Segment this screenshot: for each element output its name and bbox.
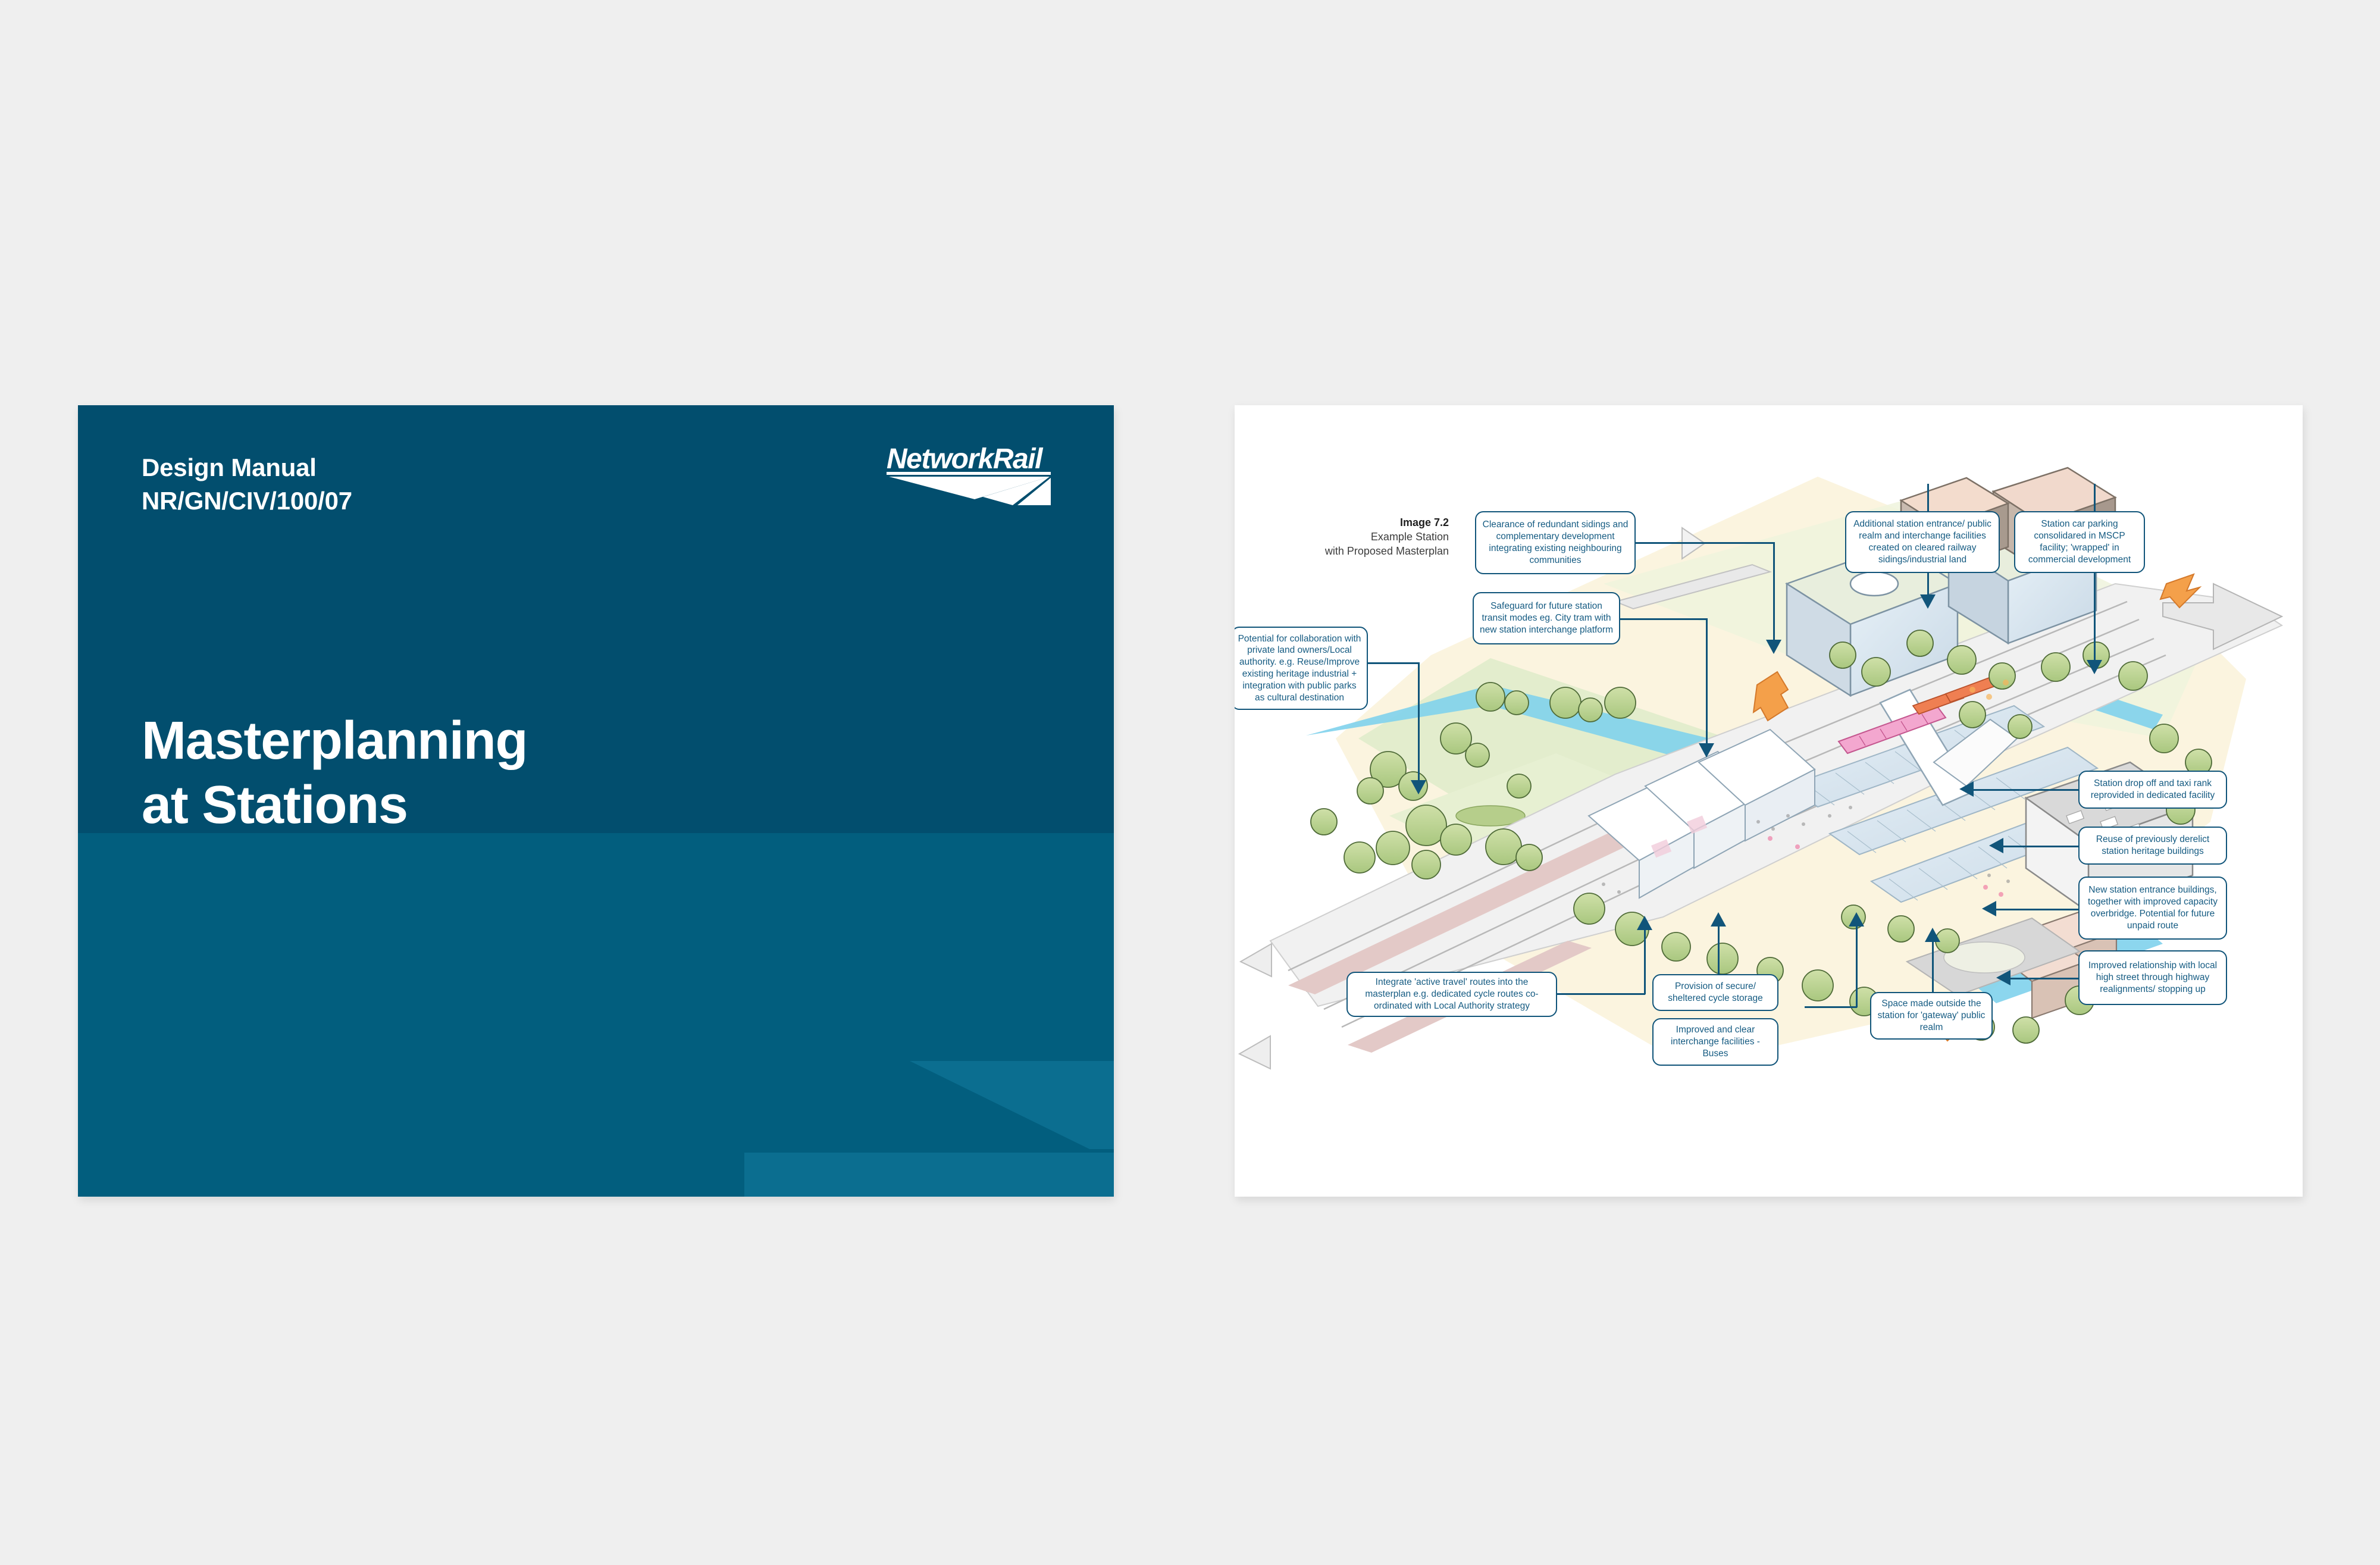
leader-clearance-sidings-v: [1773, 542, 1775, 642]
callout-additional-station-entrance[interactable]: Additional station entrance/ public real…: [1845, 511, 2000, 573]
callout-reuse-heritage-buildings[interactable]: Reuse of previously derelict station her…: [2078, 827, 2227, 865]
callout-station-car-parking[interactable]: Station car parking consolidared in MSCP…: [2014, 511, 2145, 573]
design-manual-reference: Design Manual NR/GN/CIV/100/07: [142, 451, 352, 518]
arrowhead-clearance-sidings: [1766, 636, 1781, 654]
image-caption-line2: with Proposed Masterplan: [1325, 545, 1449, 557]
leader-gateway-realm-v: [1932, 941, 1934, 993]
leader-high-street: [2008, 978, 2081, 979]
image-caption: Image 7.2 Example Station with Proposed …: [1282, 515, 1449, 558]
leader-cycle-storage-v: [1718, 925, 1720, 976]
image-caption-line1: Example Station: [1371, 531, 1449, 543]
leader-active-travel-v: [1644, 929, 1646, 994]
arrowhead-cycle-storage: [1711, 912, 1726, 930]
callout-cycle-storage[interactable]: Provision of secure/ sheltered cycle sto…: [1652, 974, 1778, 1011]
leader-heritage-buildings: [2001, 846, 2081, 847]
leader-interchange-buses-v: [1856, 925, 1858, 1007]
network-rail-logo: NetworkRail: [879, 435, 1058, 506]
svg-text:NetworkRail: NetworkRail: [887, 443, 1044, 475]
arrowhead-car-parking: [2087, 656, 2102, 674]
callout-new-station-entrance-buildings[interactable]: New station entrance buildings, together…: [2078, 877, 2227, 940]
arrowhead-heritage-buildings: [1989, 838, 2007, 853]
arrowhead-drop-off: [1959, 781, 1977, 797]
callout-safeguard-transit-modes[interactable]: Safeguard for future station transit mod…: [1473, 592, 1620, 644]
arrowhead-new-entrance-buildings: [1982, 901, 2000, 916]
callout-interchange-buses[interactable]: Improved and clear interchange facilitie…: [1652, 1018, 1778, 1066]
cover-page: Design Manual NR/GN/CIV/100/07 Masterpla…: [78, 405, 1114, 1197]
leader-clearance-sidings: [1633, 542, 1774, 544]
arrowhead-additional-entrance: [1920, 591, 1936, 609]
callout-integrate-active-travel[interactable]: Integrate 'active travel' routes into th…: [1346, 972, 1557, 1017]
callout-station-drop-off-taxi[interactable]: Station drop off and taxi rank reprovide…: [2078, 771, 2227, 809]
arrowhead-safeguard-transit: [1699, 740, 1714, 758]
leader-safeguard-transit: [1618, 618, 1707, 620]
arrowhead-potential-collaboration: [1411, 777, 1426, 794]
leader-new-entrance-buildings: [1994, 909, 2081, 910]
arrowhead-gateway-realm: [1925, 928, 1940, 946]
image-caption-title: Image 7.2: [1400, 517, 1449, 528]
leader-drop-off: [1971, 789, 2081, 791]
arrowhead-active-travel: [1637, 916, 1652, 934]
callout-gateway-public-realm[interactable]: Space made outside the station for 'gate…: [1870, 992, 1993, 1040]
callout-improved-high-street[interactable]: Improved relationship with local high st…: [2078, 950, 2227, 1005]
content-page: Image 7.2 Example Station with Proposed …: [1235, 405, 2303, 1197]
callout-potential-collaboration[interactable]: Potential for collaboration with private…: [1235, 627, 1368, 710]
spread-canvas: Design Manual NR/GN/CIV/100/07 Masterpla…: [0, 0, 2380, 1565]
leader-active-travel: [1557, 993, 1645, 995]
leader-interchange-buses: [1805, 1006, 1857, 1008]
callout-clearance-sidings[interactable]: Clearance of redundant sidings and compl…: [1475, 511, 1636, 574]
leader-car-parking-v: [2094, 484, 2096, 662]
leader-safeguard-transit-v: [1706, 618, 1708, 746]
arrowhead-interchange-buses: [1849, 912, 1864, 930]
arrowhead-high-street: [1996, 970, 2014, 985]
cover-lower-band: [78, 833, 1114, 1197]
leader-potential-collaboration-v: [1418, 662, 1420, 782]
cover-title: Masterplanning at Stations: [142, 709, 527, 837]
